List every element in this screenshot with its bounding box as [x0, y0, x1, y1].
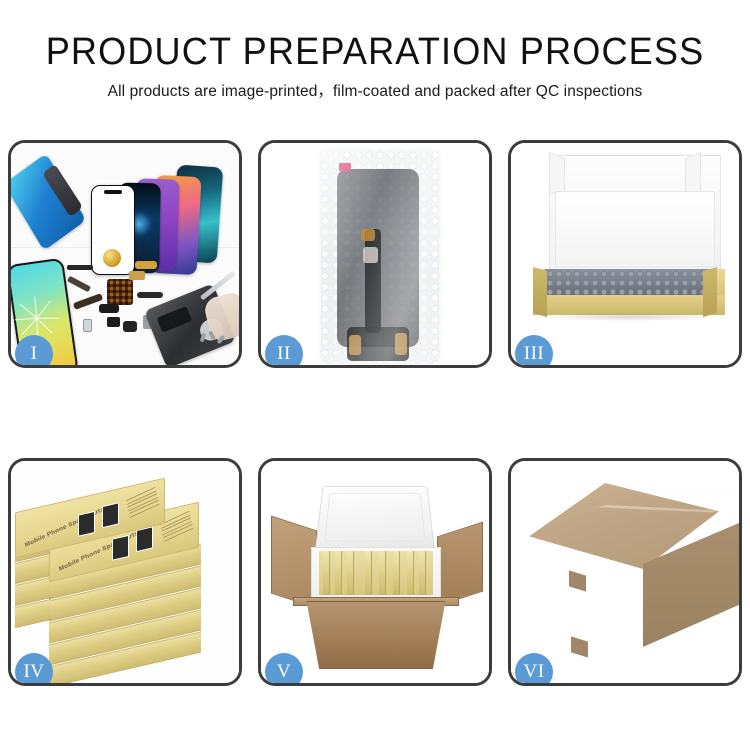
box-side-left-icon: [533, 267, 547, 317]
screws-icon: [201, 331, 231, 345]
step-4-image: Mobile Phone Spare Parts Mobile Phone Sp…: [11, 461, 239, 683]
vibration-motor-icon: [103, 249, 121, 267]
screen-with-blue-film-icon: [11, 153, 86, 251]
flex-cable-icon: [365, 229, 381, 333]
stacked-boxes-scene: Mobile Phone Spare Parts Mobile Phone Sp…: [11, 461, 239, 683]
box-front-panel-icon: [533, 295, 725, 315]
step-3-image: [511, 143, 739, 365]
page-subtitle: All products are image-printed，film-coat…: [0, 82, 750, 102]
sealed-carton-scene: [511, 461, 739, 683]
process-step-panel-5[interactable]: V: [258, 458, 492, 686]
speaker-icon: [123, 321, 137, 332]
crack-lines: [12, 293, 62, 343]
carton-tab-icon: [571, 636, 588, 657]
gold-contact-icon: [349, 335, 361, 355]
gold-contact-icon: [395, 333, 407, 355]
phone-parts-scene: [11, 143, 239, 365]
cracked-phone-icon: [11, 258, 79, 365]
connector-strip-icon: [67, 265, 93, 270]
header: PRODUCT PREPARATION PROCESS All products…: [0, 30, 750, 102]
box-side-right-icon: [703, 267, 717, 317]
step-5-image: [261, 461, 489, 683]
bubble-wrap-scene: [261, 143, 489, 365]
product-preparation-infographic: PRODUCT PREPARATION PROCESS All products…: [0, 0, 750, 750]
carton-cooler-scene: [261, 461, 489, 683]
carton-flap-right-icon: [437, 522, 483, 607]
gold-connector-icon: [361, 229, 375, 241]
process-step-panel-2[interactable]: II: [258, 140, 492, 368]
box-thumbnail-icon: [112, 535, 129, 561]
step-2-image: [261, 143, 489, 365]
box-thumbnail-icon: [78, 511, 95, 537]
sim-tray-icon: [83, 319, 92, 332]
bubble-cushion-icon: [545, 269, 713, 295]
connector-icon: [67, 276, 91, 293]
step-6-image: [511, 461, 739, 683]
yellow-boxes-inside-icon: [319, 551, 433, 595]
styrofoam-lid-icon: [315, 486, 435, 550]
process-step-panel-6[interactable]: VI: [508, 458, 742, 686]
process-step-grid: I II: [8, 140, 742, 686]
pink-qc-sticker-icon: [339, 163, 351, 171]
camera-module-icon: [99, 304, 119, 313]
gold-contact-icon: [129, 271, 145, 280]
box-checklist-lines: [160, 511, 194, 544]
process-step-panel-3[interactable]: III: [508, 140, 742, 368]
box-thumbnail-icon: [102, 502, 119, 528]
button-part-icon: [107, 317, 120, 327]
flex-cable-icon: [137, 292, 163, 298]
box-shadow: [541, 313, 717, 321]
gold-contact-icon: [135, 261, 157, 269]
bubble-wrap-bag-icon: [321, 151, 439, 363]
step-1-image: [11, 143, 239, 365]
box-thumbnail-icon: [136, 526, 153, 552]
box-checklist-lines: [126, 487, 160, 520]
carton-body-icon: [297, 601, 455, 669]
process-step-panel-1[interactable]: I: [8, 140, 242, 368]
chip-icon: [107, 279, 133, 305]
open-kraft-box-scene: [511, 143, 739, 365]
connector-icon: [363, 247, 378, 263]
page-title: PRODUCT PREPARATION PROCESS: [19, 30, 732, 74]
process-step-panel-4[interactable]: Mobile Phone Spare Parts Mobile Phone Sp…: [8, 458, 242, 686]
foam-sheet-icon: [555, 191, 715, 267]
